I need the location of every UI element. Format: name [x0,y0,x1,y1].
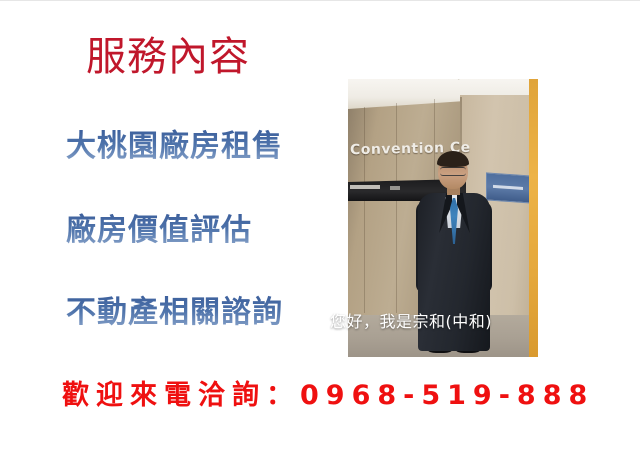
eyeglasses-icon [440,167,466,176]
slide-canvas: 服務內容 大桃園廠房租售 廠房價值評估 不動產相關諮詢 Convention C… [0,0,640,451]
photo-caption: 您好，我是宗和(中和) [330,308,492,332]
wood-seam [364,107,365,313]
service-item-3: 不動產相關諮詢 [66,295,283,331]
contact-phone-line: 歡迎來電洽詢：0968-519-888 [62,373,594,412]
page-title: 服務內容 [86,34,250,80]
service-item-2: 廠房價值評估 [66,213,252,249]
glass-highlight [390,186,400,190]
hair [437,151,469,167]
wood-seam [396,103,397,313]
glass-highlight [350,185,380,189]
amber-accent-strip [529,79,538,357]
service-item-1: 大桃園廠房租售 [66,129,283,165]
